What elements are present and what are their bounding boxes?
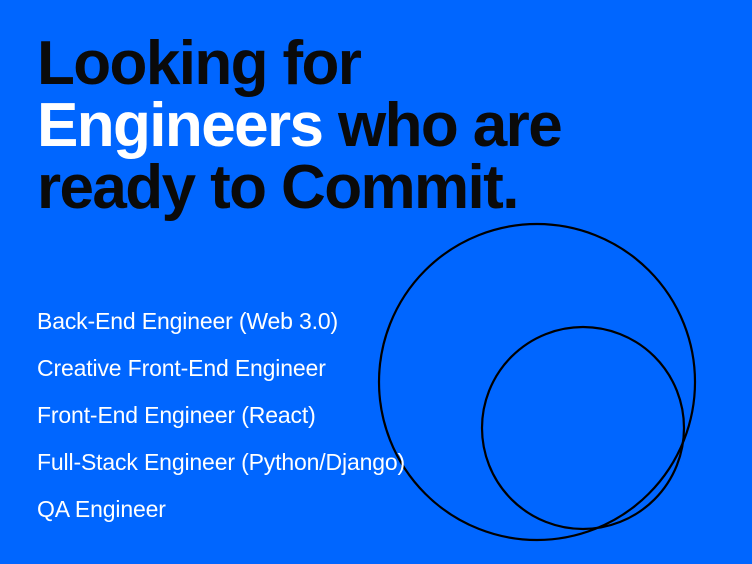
job-list: Back-End Engineer (Web 3.0) Creative Fro… [37, 306, 405, 541]
large-circle-icon [379, 224, 695, 540]
hiring-poster: Looking for Engineers who are ready to C… [0, 0, 752, 564]
list-item[interactable]: QA Engineer [37, 494, 405, 541]
small-circle-icon [482, 327, 684, 529]
headline-line-1-text: Looking for [37, 29, 360, 98]
list-item[interactable]: Front-End Engineer (React) [37, 400, 405, 447]
headline-line-2-rest: who are [322, 91, 561, 160]
headline-accent-word: Engineers [37, 91, 322, 160]
list-item[interactable]: Full-Stack Engineer (Python/Django) [37, 447, 405, 494]
page-title: Looking for Engineers who are ready to C… [37, 33, 561, 219]
list-item[interactable]: Back-End Engineer (Web 3.0) [37, 306, 405, 353]
list-item[interactable]: Creative Front-End Engineer [37, 353, 405, 400]
headline-line-2: Engineers who are [37, 95, 561, 157]
headline-line-1: Looking for [37, 33, 561, 95]
headline-line-3: ready to Commit. [37, 157, 561, 219]
headline-line-3-text: ready to Commit. [37, 153, 518, 222]
